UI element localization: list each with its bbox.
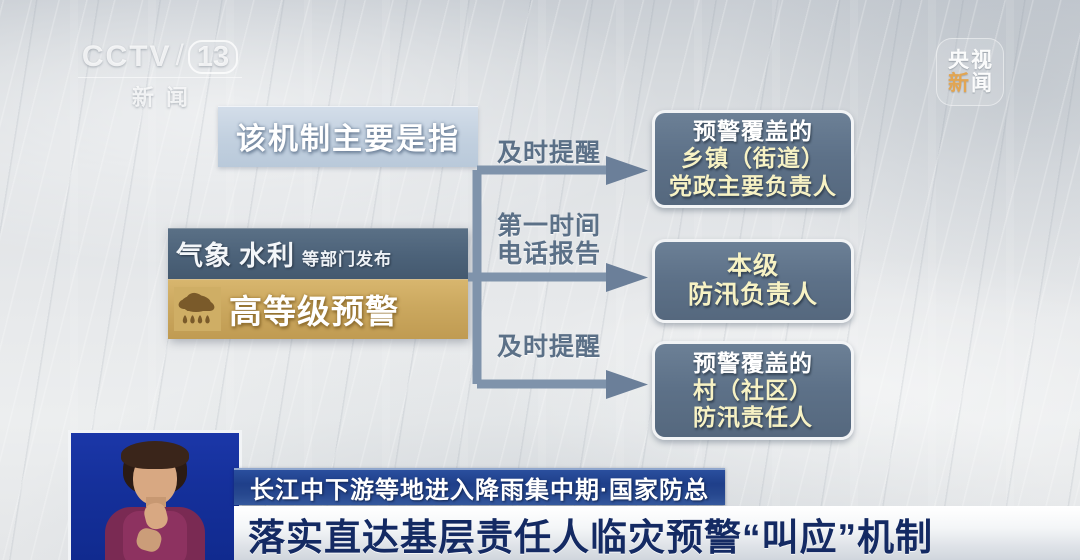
- cctv-logo-row: CCTV / 13: [72, 40, 248, 74]
- cctv-channel-number: 13: [188, 40, 238, 74]
- cctv-wordmark: CCTV: [82, 40, 172, 74]
- source-agency-meteorology: 气象: [176, 234, 232, 273]
- lower-third-subheadline-banner: 长江中下游等地进入降雨集中期·国家防总: [234, 468, 725, 505]
- target-box-village-line2: 村（社区）: [693, 377, 813, 404]
- lower-third-subheadline-text: 长江中下游等地进入降雨集中期·国家防总: [250, 470, 709, 505]
- source-agency-water: 水利: [239, 234, 295, 273]
- watermark-char-wen: 闻: [971, 73, 992, 95]
- watermark-char-yang: 央: [948, 50, 969, 72]
- rain-cloud-icon: [174, 287, 221, 331]
- watermark-line-1: 央 视: [948, 50, 992, 72]
- high-level-warning-label: 高等级预警: [229, 285, 399, 333]
- lower-third-headline-text: 落实直达基层责任人临灾预警“叫应”机制: [248, 507, 933, 560]
- source-warning-block: 气象 水利 等部门发布 高等级预警: [168, 228, 468, 339]
- cctv-logo-divider: [78, 77, 242, 78]
- watermark-char-xin: 新: [948, 73, 969, 95]
- interpreter-fringe: [121, 441, 189, 469]
- diagram-header-banner: 该机制主要是指: [218, 106, 478, 167]
- target-box-own-level: 本级 防汛负责人: [652, 239, 854, 323]
- target-box-township-line2: 乡镇（街道）: [681, 145, 825, 172]
- target-box-own-level-line1: 本级: [727, 252, 779, 282]
- cctv-logo-slash: /: [176, 39, 184, 73]
- target-box-township: 预警覆盖的 乡镇（街道） 党政主要负责人: [652, 110, 854, 208]
- target-box-village: 预警覆盖的 村（社区） 防汛责任人: [652, 341, 854, 440]
- diagram-header-text: 该机制主要是指: [236, 123, 460, 156]
- target-box-village-line3: 防汛责任人: [693, 404, 813, 431]
- arrow-label-timely-reminder-bottom: 及时提醒: [497, 333, 601, 361]
- target-box-own-level-line2: 防汛负责人: [688, 281, 818, 311]
- sign-language-interpreter-inset: [68, 430, 242, 560]
- cctv13-channel-logo: CCTV / 13 新闻: [72, 40, 248, 112]
- target-box-township-line3: 党政主要负责人: [669, 173, 837, 200]
- watermark-char-shi: 视: [971, 50, 992, 72]
- lower-third-headline-banner: 落实直达基层责任人临灾预警“叫应”机制: [234, 506, 1080, 560]
- arrow-label-timely-reminder-top: 及时提醒: [497, 139, 601, 167]
- source-agency-bar: 气象 水利 等部门发布: [168, 228, 468, 279]
- source-agency-suffix: 等部门发布: [302, 245, 392, 270]
- cctv-news-app-watermark: 央 视 新 闻: [936, 38, 1004, 106]
- arrow-label-top-line: 及时提醒: [497, 139, 601, 167]
- arrow-label-phone-report: 第一时间 电话报告: [497, 212, 601, 268]
- target-box-township-line1: 预警覆盖的: [693, 118, 813, 145]
- arrow-label-mid-line2: 电话报告: [497, 240, 601, 268]
- watermark-line-2: 新 闻: [948, 73, 992, 95]
- source-warning-bar: 高等级预警: [168, 279, 468, 339]
- target-box-village-line1: 预警覆盖的: [693, 350, 813, 377]
- arrow-label-bottom-line: 及时提醒: [497, 333, 601, 361]
- broadcast-screenshot: CCTV / 13 新闻 央 视 新 闻 该机制主要是指 气象 水利 等部门发布: [0, 0, 1080, 560]
- arrow-label-mid-line1: 第一时间: [497, 212, 601, 240]
